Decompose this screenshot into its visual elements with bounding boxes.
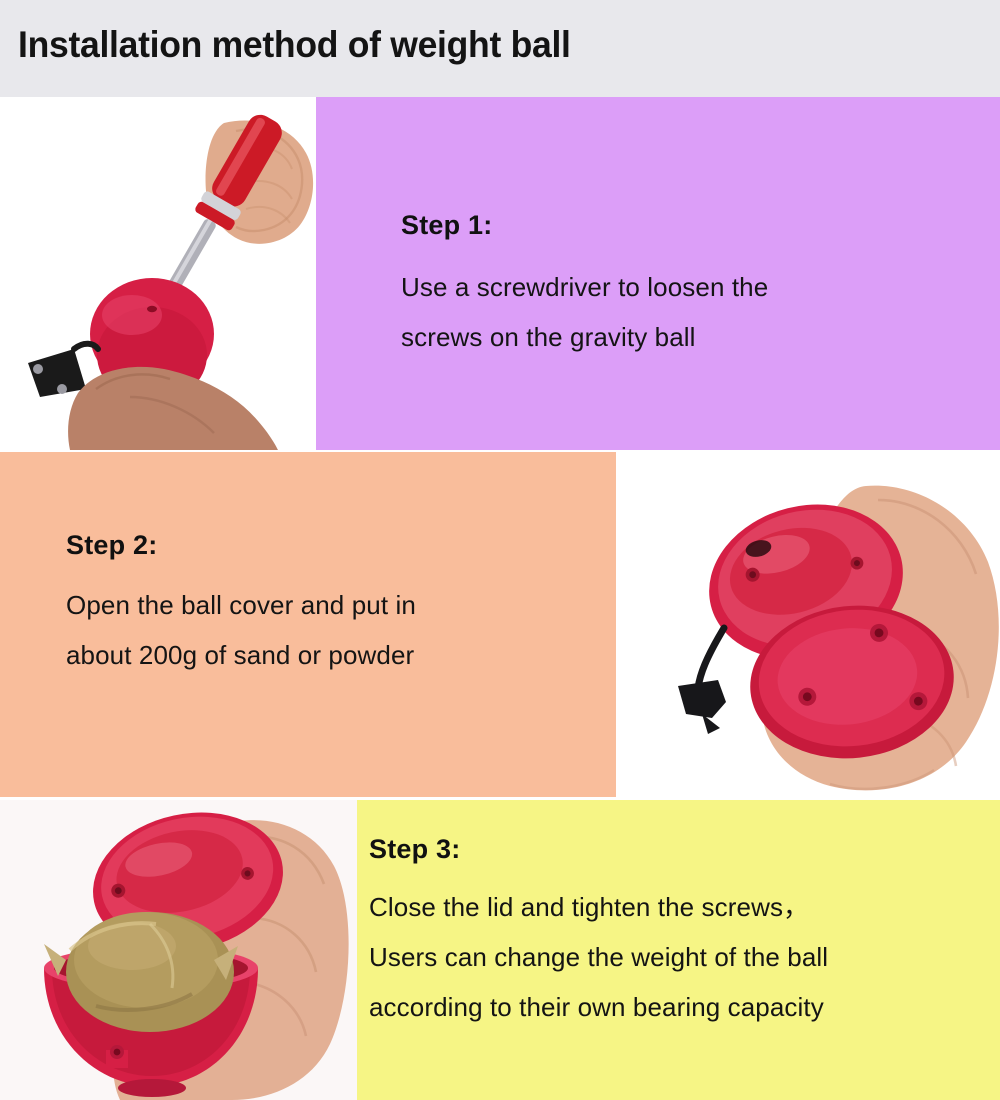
step-2-row: Step 2: Open the ball cover and put in a… [0,452,1000,797]
photo-opened-ball-halves [616,452,1000,797]
photo-screwdriver-loosening-ball [0,97,316,450]
step-3-body: Close the lid and tighten the screws， Us… [369,882,828,1032]
step-1-text-panel: Step 1: Use a screwdriver to loosen the … [316,97,1000,450]
step-3-line-1: Close the lid and tighten the screws， [369,882,828,932]
step-2-body: Open the ball cover and put in about 200… [66,580,416,680]
step-2-text-panel: Step 2: Open the ball cover and put in a… [0,452,616,797]
step-1-line-2: screws on the gravity ball [401,312,768,362]
header-bar: Installation method of weight ball [0,0,1000,97]
step-1-row: Step 1: Use a screwdriver to loosen the … [0,97,1000,450]
step-3-row: Step 3: Close the lid and tighten the sc… [0,800,1000,1100]
weight-ball-instruction-graphic: Installation method of weight ball [0,0,1000,1100]
step-3-line-3: according to their own bearing capacity [369,982,828,1032]
step-1-title: Step 1: [401,210,492,240]
step-2-line-1: Open the ball cover and put in [66,580,416,630]
step-3-title: Step 3: [369,834,460,864]
step-3-text-panel: Step 3: Close the lid and tighten the sc… [357,800,1000,1100]
page-title: Installation method of weight ball [18,22,571,68]
step-2-line-2: about 200g of sand or powder [66,630,416,680]
step-2-title: Step 2: [66,530,157,560]
step-1-body: Use a screwdriver to loosen the screws o… [401,262,768,362]
step-3-line-2: Users can change the weight of the ball [369,932,828,982]
photo-ball-filled-with-sand [0,800,357,1100]
step-1-line-1: Use a screwdriver to loosen the [401,262,768,312]
